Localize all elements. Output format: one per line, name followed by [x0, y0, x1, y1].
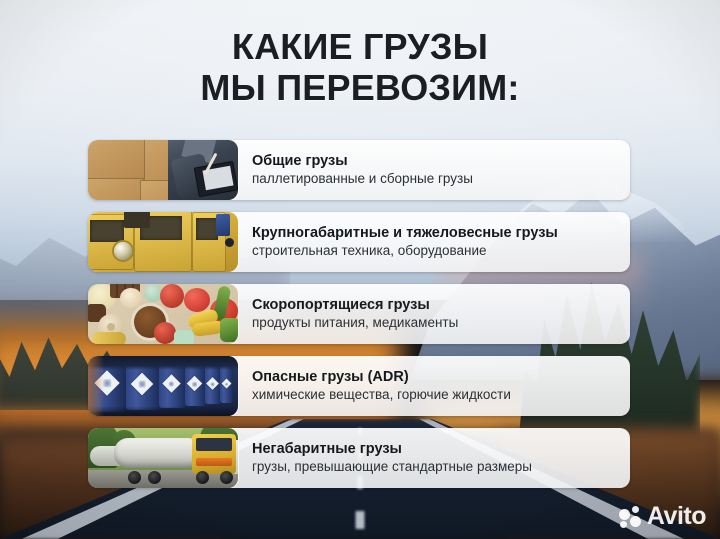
list-item[interactable]: Крупногабаритные и тяжеловесные грузы ст… [88, 212, 630, 272]
list-item-text: Крупногабаритные и тяжеловесные грузы ст… [238, 224, 568, 260]
list-item-title: Общие грузы [252, 152, 473, 170]
avito-wordmark: Avito [647, 504, 706, 529]
list-item-title: Негабаритные грузы [252, 440, 532, 458]
cargo-type-list: Общие грузы паллетированные и сборные гр… [88, 140, 630, 500]
list-item-text: Общие грузы паллетированные и сборные гр… [238, 152, 483, 188]
page-title: КАКИЕ ГРУЗЫ МЫ ПЕРЕВОЗИМ: [0, 26, 720, 108]
list-item-text: Скоропортящиеся грузы продукты питания, … [238, 296, 468, 332]
cardboard-boxes-inspector-photo [88, 140, 238, 200]
list-item-subtitle: продукты питания, медикаменты [252, 314, 458, 332]
yellow-construction-machine-photo [88, 212, 238, 272]
oversize-tank-truck-photo [88, 428, 238, 488]
list-item[interactable]: Скоропортящиеся грузы продукты питания, … [88, 284, 630, 344]
list-item-subtitle: паллетированные и сборные грузы [252, 170, 473, 188]
list-item[interactable]: Негабаритные грузы грузы, превышающие ст… [88, 428, 630, 488]
list-item-text: Опасные грузы (ADR) химические вещества,… [238, 368, 521, 404]
list-item-title: Скоропортящиеся грузы [252, 296, 458, 314]
list-item-subtitle: строительная техника, оборудование [252, 242, 558, 260]
list-item-text: Негабаритные грузы грузы, превышающие ст… [238, 440, 542, 476]
list-item-title: Крупногабаритные и тяжеловесные грузы [252, 224, 558, 242]
list-item-title: Опасные грузы (ADR) [252, 368, 511, 386]
list-item-subtitle: грузы, превышающие стандартные размеры [252, 458, 532, 476]
fresh-food-assortment-photo [88, 284, 238, 344]
list-item[interactable]: Опасные грузы (ADR) химические вещества,… [88, 356, 630, 416]
avito-watermark: Avito [619, 504, 706, 529]
blue-chemical-barrels-photo [88, 356, 238, 416]
road-center-dash [356, 511, 365, 529]
headline-line-1: КАКИЕ ГРУЗЫ [0, 26, 720, 67]
list-item[interactable]: Общие грузы паллетированные и сборные гр… [88, 140, 630, 200]
headline-line-2: МЫ ПЕРЕВОЗИМ: [0, 67, 720, 108]
avito-logo-icon [619, 506, 641, 528]
list-item-subtitle: химические вещества, горючие жидкости [252, 386, 511, 404]
